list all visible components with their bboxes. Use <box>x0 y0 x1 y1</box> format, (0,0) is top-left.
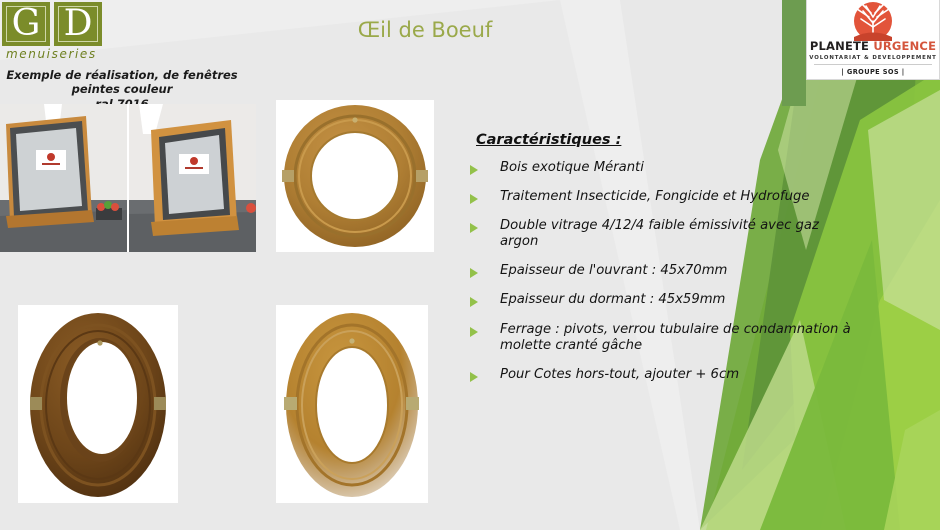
gd-logo-square-g: G <box>2 2 50 46</box>
bullet-triangle-icon <box>470 223 478 233</box>
gd-menuiseries-logo: G D menuiseries <box>2 2 112 64</box>
characteristics-list: Bois exotique Méranti Traitement Insecti… <box>470 160 860 396</box>
partner-logo-name-planete: PLANETE <box>810 39 873 53</box>
list-item: Epaisseur du dormant : 45x59mm <box>470 292 860 308</box>
list-item-label: Ferrage : pivots, verrou tubulaire de co… <box>500 322 860 354</box>
product-image-oval-light <box>276 305 428 503</box>
gd-logo-letter-g: G <box>2 2 50 46</box>
bullet-triangle-icon <box>470 327 478 337</box>
list-item: Pour Cotes hors-tout, ajouter + 6cm <box>470 367 860 383</box>
partner-logo-green-band <box>782 0 806 106</box>
photo-caption-line-1: Exemple de réalisation, de fenêtres pein… <box>0 68 260 97</box>
list-item: Bois exotique Méranti <box>470 160 860 176</box>
gd-logo-square-d: D <box>54 2 102 46</box>
list-item-label: Double vitrage 4/12/4 faible émissivité … <box>500 218 860 250</box>
list-item-label: Bois exotique Méranti <box>500 160 644 176</box>
list-item-label: Epaisseur du dormant : 45x59mm <box>500 292 725 308</box>
list-item-label: Pour Cotes hors-tout, ajouter + 6cm <box>500 367 739 383</box>
gd-logo-squares: G D <box>2 2 106 46</box>
list-item: Traitement Insecticide, Fongicide et Hyd… <box>470 189 860 205</box>
list-item: Ferrage : pivots, verrou tubulaire de co… <box>470 322 860 354</box>
list-item: Epaisseur de l'ouvrant : 45x70mm <box>470 263 860 279</box>
realisation-photo-1 <box>0 104 127 252</box>
product-image-round <box>276 100 434 252</box>
bullet-triangle-icon <box>470 372 478 382</box>
realisation-photo-strip <box>0 104 256 252</box>
list-item: Double vitrage 4/12/4 faible émissivité … <box>470 218 860 250</box>
partner-logo-group: | GROUPE SOS | <box>841 68 904 76</box>
presentation-slide: G D menuiseries Œil de Boeuf PLANETE U <box>0 0 940 530</box>
bullet-triangle-icon <box>470 165 478 175</box>
planete-urgence-logo: PLANETE URGENCE VOLONTARIAT & DEVELOPPEM… <box>806 0 940 80</box>
realisation-photo-2 <box>127 104 256 252</box>
gd-logo-letter-d: D <box>54 2 102 46</box>
characteristics-heading: Caractéristiques : <box>476 132 621 148</box>
partner-logo-divider <box>814 64 932 65</box>
gd-logo-wordmark: menuiseries <box>6 47 112 61</box>
partner-logo-name-urgence: URGENCE <box>873 39 936 53</box>
product-image-oval-dark <box>18 305 178 503</box>
partner-logo-tagline: VOLONTARIAT & DEVELOPPEMENT <box>809 55 936 61</box>
list-item-label: Epaisseur de l'ouvrant : 45x70mm <box>500 263 727 279</box>
bullet-triangle-icon <box>470 297 478 307</box>
tree-icon <box>847 1 899 41</box>
page-title: Œil de Boeuf <box>300 18 550 42</box>
bullet-triangle-icon <box>470 194 478 204</box>
list-item-label: Traitement Insecticide, Fongicide et Hyd… <box>500 189 809 205</box>
partner-logo-name: PLANETE URGENCE <box>810 41 936 53</box>
bullet-triangle-icon <box>470 268 478 278</box>
